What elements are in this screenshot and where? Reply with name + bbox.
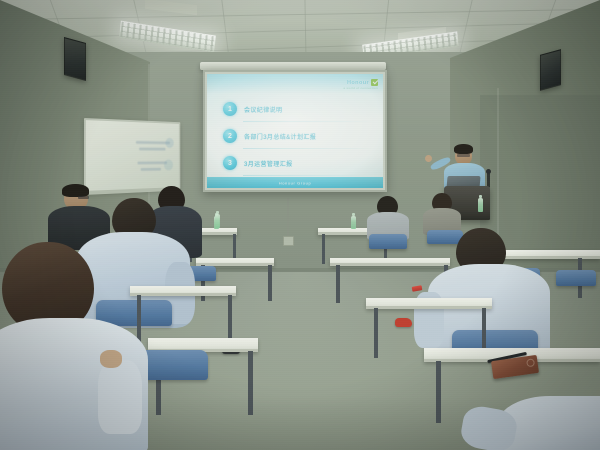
projector-screen-housing <box>200 62 386 70</box>
cable <box>287 198 289 238</box>
desk-leg <box>268 265 272 301</box>
desk-leg <box>374 308 378 358</box>
presenter-hair <box>454 144 473 154</box>
water-bottle <box>478 198 483 212</box>
chair <box>369 234 407 249</box>
water-bottle <box>215 214 220 228</box>
agenda-item-label: 各部门3月总结&计划汇报 <box>244 132 316 141</box>
agenda-item-label: 会议纪律说明 <box>244 105 282 114</box>
glasses-icon <box>457 154 470 157</box>
arm <box>98 360 142 434</box>
presenter-hand <box>425 155 432 162</box>
slide-footer-band: Honour Group <box>207 177 383 188</box>
shoe <box>395 318 412 327</box>
agenda-number-badge: 1 <box>223 102 237 116</box>
water-bottle <box>351 216 356 229</box>
logo-text: Honour <box>347 80 369 86</box>
wall-speaker-left-icon <box>64 37 86 81</box>
chair <box>556 270 596 286</box>
agenda-number-badge: 2 <box>223 129 237 143</box>
honour-logo: Honour <box>347 79 378 86</box>
desk <box>196 258 274 266</box>
desk-leg <box>336 265 340 303</box>
desk-leg <box>137 295 141 343</box>
agenda-item: 1 会议纪律说明 <box>223 100 375 118</box>
logo-checkmark-icon <box>371 79 378 86</box>
desk-leg <box>228 295 232 343</box>
presentation-slide: Honour a world of connection 1 会议纪律说明 2 … <box>207 74 383 188</box>
meeting-room-photo: Honour a world of connection 1 会议纪律说明 2 … <box>0 0 600 450</box>
desk <box>130 286 236 296</box>
projection-screen: Honour a world of connection 1 会议纪律说明 2 … <box>203 70 387 192</box>
desk <box>330 258 450 266</box>
desk-leg <box>248 351 253 415</box>
wall-outlet <box>283 236 294 246</box>
slide-footer-text: Honour Group <box>279 180 312 185</box>
wall-speaker-right-icon <box>540 49 561 91</box>
agenda-item: 2 各部门3月总结&计划汇报 <box>223 127 375 145</box>
agenda-item-label: 3月运营管理汇报 <box>244 159 293 168</box>
agenda-list: 1 会议纪律说明 2 各部门3月总结&计划汇报 3 3月运营管理汇报 <box>223 100 375 181</box>
desk <box>366 298 492 309</box>
desk-leg <box>322 234 325 264</box>
glasses-icon <box>78 196 89 199</box>
agenda-item: 3 3月运营管理汇报 <box>223 154 375 172</box>
whiteboard <box>84 118 180 193</box>
hand <box>100 350 122 368</box>
agenda-number-badge: 3 <box>223 156 237 170</box>
desk-leg <box>436 361 441 423</box>
logo-tagline: a world of connection <box>343 86 378 90</box>
